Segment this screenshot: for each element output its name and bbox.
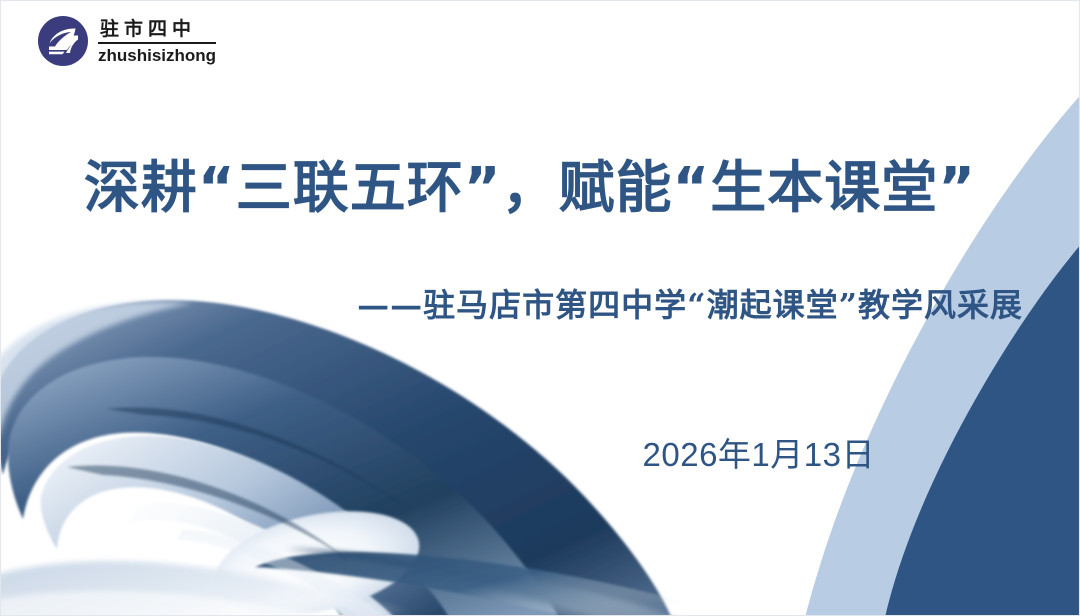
slide-subtitle: ——驻马店市第四中学“潮起课堂”教学风采展 <box>1 280 1041 326</box>
slide-main-title: 深耕“三联五环”，赋能“生本课堂” <box>1 143 1059 224</box>
school-logo: 驻市四中 zhushisizhong <box>37 15 216 67</box>
logo-chinese-name: 驻市四中 <box>98 20 216 42</box>
presentation-slide: 驻市四中 zhushisizhong 深耕“三联五环”，赋能“生本课堂” ——驻… <box>0 0 1080 616</box>
slide-date: 2026年1月13日 <box>1 428 1041 476</box>
logo-pinyin: zhushisizhong <box>98 44 216 64</box>
school-emblem-icon <box>37 15 89 67</box>
wave-eye <box>205 494 428 616</box>
